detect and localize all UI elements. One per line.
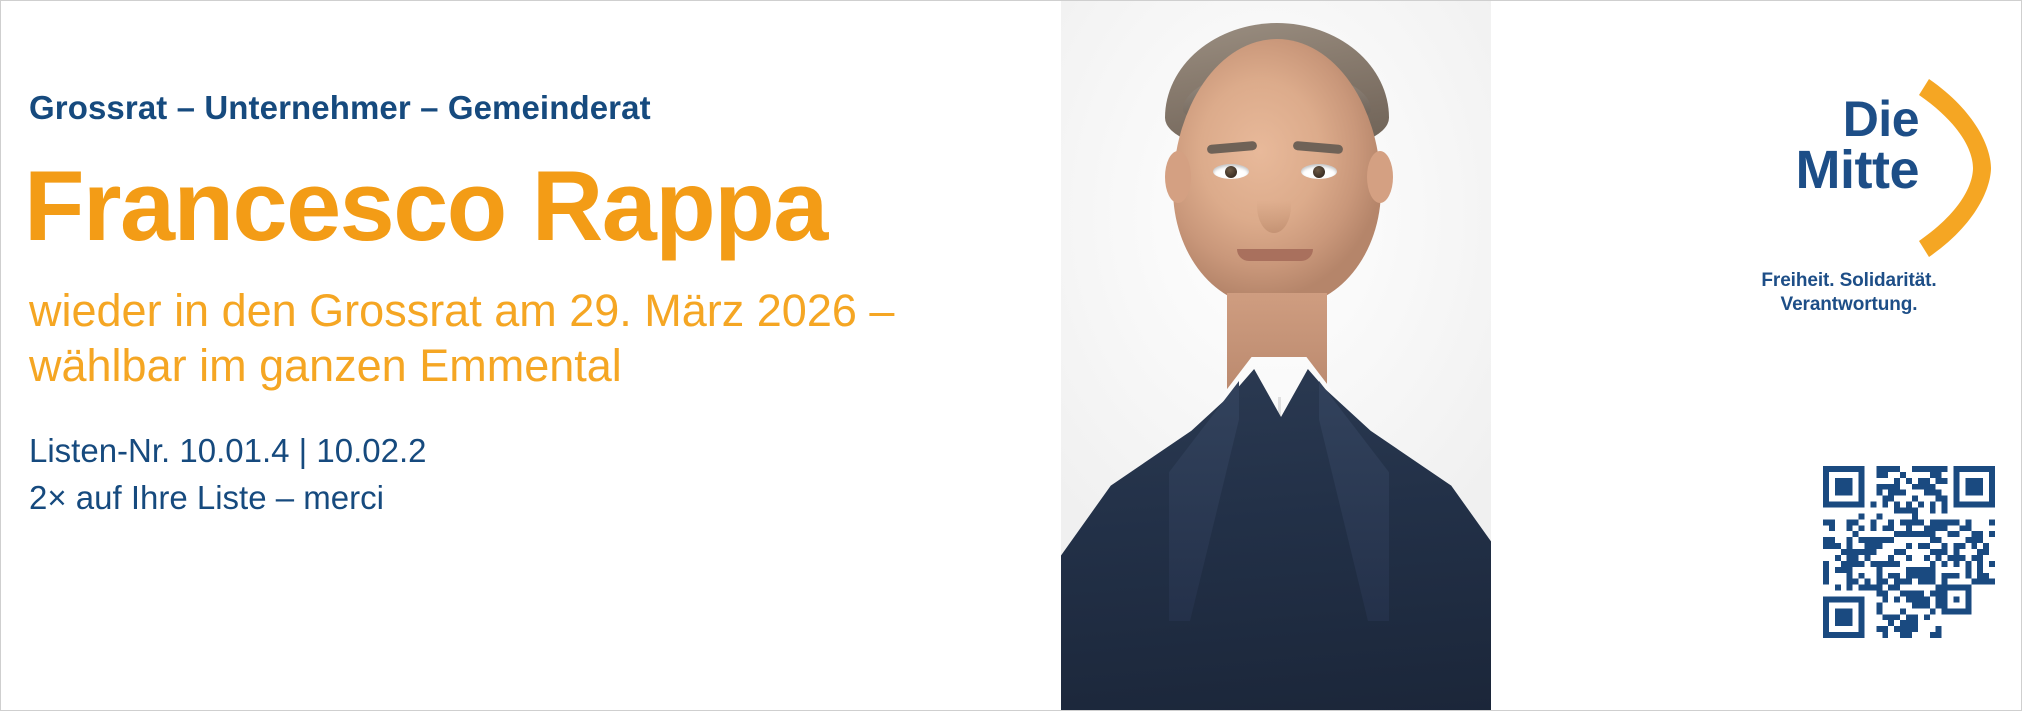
party-logo-lockup: Die Mitte bbox=[1703, 73, 1995, 263]
party-logo-block: Die Mitte Freiheit. Solidarität. Verantw… bbox=[1703, 73, 1995, 333]
party-name-line-2: Mitte bbox=[1796, 144, 1919, 197]
party-name: Die Mitte bbox=[1796, 95, 1919, 197]
promise-line-1: wieder in den Grossrat am 29. März 2026 … bbox=[29, 284, 894, 339]
orange-arc-icon bbox=[1919, 73, 1995, 263]
list-number-info: Listen-Nr. 10.01.4 | 10.02.2 2× auf Ihre… bbox=[29, 428, 427, 522]
banner-text-column: Grossrat – Unternehmer – Gemeinderat Fra… bbox=[29, 1, 1029, 711]
portrait-eye-left bbox=[1213, 164, 1249, 179]
candidate-portrait-photo bbox=[1061, 1, 1491, 711]
portrait-ear-right bbox=[1367, 151, 1393, 203]
party-name-line-1: Die bbox=[1796, 95, 1919, 144]
list-number-line: Listen-Nr. 10.01.4 | 10.02.2 bbox=[29, 428, 427, 475]
party-slogan: Freiheit. Solidarität. Verantwortung. bbox=[1703, 269, 1995, 318]
portrait-nose bbox=[1257, 179, 1291, 233]
candidate-roles-eyebrow: Grossrat – Unternehmer – Gemeinderat bbox=[29, 89, 651, 127]
vote-call-to-action-line: 2× auf Ihre Liste – merci bbox=[29, 475, 427, 522]
qr-code-icon[interactable] bbox=[1823, 466, 1995, 638]
portrait-mouth bbox=[1237, 249, 1313, 261]
candidate-name-heading: Francesco Rappa bbox=[24, 156, 827, 255]
party-slogan-line-1: Freiheit. Solidarität. bbox=[1703, 269, 1995, 293]
campaign-banner: Grossrat – Unternehmer – Gemeinderat Fra… bbox=[0, 0, 2022, 711]
portrait-jacket bbox=[1061, 369, 1491, 711]
portrait-ear-left bbox=[1165, 151, 1191, 203]
party-slogan-line-2: Verantwortung. bbox=[1703, 293, 1995, 317]
portrait-backdrop bbox=[1061, 1, 1491, 711]
portrait-eye-right bbox=[1301, 164, 1337, 179]
promise-line-2: wählbar im ganzen Emmental bbox=[29, 339, 894, 394]
campaign-promise: wieder in den Grossrat am 29. März 2026 … bbox=[29, 284, 894, 394]
